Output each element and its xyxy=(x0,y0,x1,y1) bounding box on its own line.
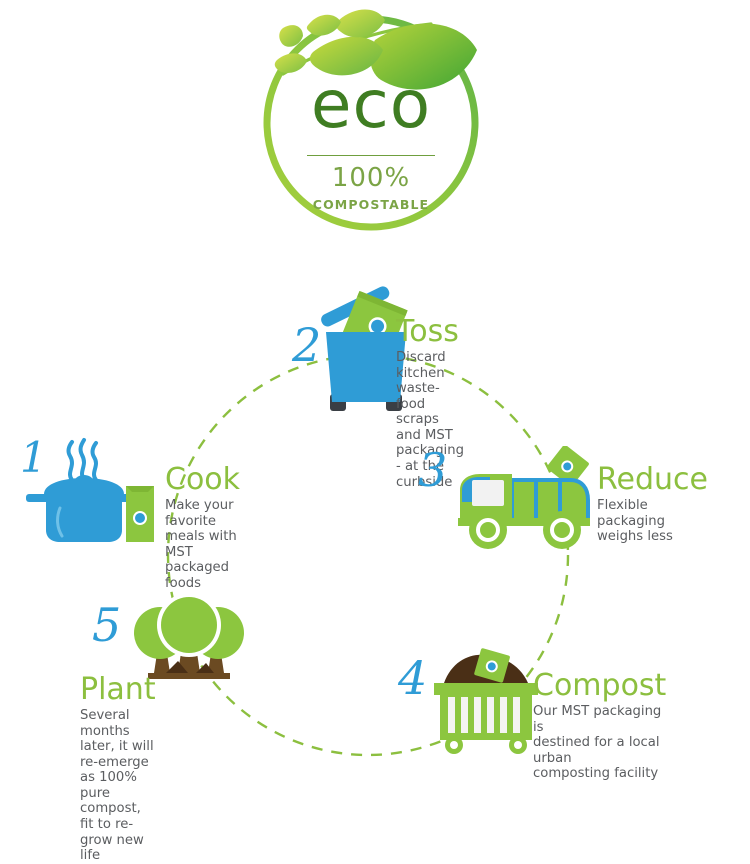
step-reduce-text: Reduce Flexible packaging weighs less xyxy=(597,465,708,545)
step-number-5: 5 xyxy=(92,602,121,648)
bin-body-icon xyxy=(326,332,406,402)
garbage-truck-icon xyxy=(450,446,596,556)
pot-handle-icon xyxy=(26,494,142,502)
infographic-canvas: eco 100% COMPOSTABLE 2 xyxy=(0,0,750,779)
step-title-toss: Toss xyxy=(396,317,464,347)
leaf-small-3-icon xyxy=(275,53,307,73)
step-title-cook: Cook xyxy=(165,465,240,495)
step-cook-text: Cook Make your favorite meals with MST p… xyxy=(165,465,240,591)
step-number-4: 4 xyxy=(398,655,427,701)
steam-icon xyxy=(69,440,96,480)
step-title-plant: Plant xyxy=(80,675,156,705)
compost-bin-icon xyxy=(428,645,546,759)
step-desc-compost: Our MST packaging is destined for a loca… xyxy=(533,704,666,782)
badge-percent: 100% xyxy=(255,165,487,191)
cab-window-icon xyxy=(472,480,504,506)
step-compost-text: Compost Our MST packaging is destined fo… xyxy=(533,671,666,782)
bin-rim-icon xyxy=(434,683,538,695)
pot-lid-icon xyxy=(44,478,124,494)
step-plant-text: Plant Several months later, it will re-e… xyxy=(80,675,156,864)
step-desc-cook: Make your favorite meals with MST packag… xyxy=(165,498,240,591)
step-title-reduce: Reduce xyxy=(597,465,708,495)
ground-icon xyxy=(148,673,230,679)
step-number-3: 3 xyxy=(418,447,447,493)
badge-word: eco xyxy=(255,72,487,138)
truck-wheel-front-icon xyxy=(469,511,507,549)
badge-divider xyxy=(307,155,435,156)
tree-canopy-center-icon xyxy=(161,597,217,653)
leaf-small-2-icon xyxy=(307,15,341,36)
step-desc-plant: Several months later, it will re-emerge … xyxy=(80,708,156,864)
cooking-pot-icon xyxy=(22,436,162,552)
truck-wheel-rear-icon xyxy=(543,511,581,549)
step-desc-reduce: Flexible packaging weighs less xyxy=(597,498,708,545)
step-title-compost: Compost xyxy=(533,671,666,701)
eco-compostable-badge: eco 100% COMPOSTABLE xyxy=(255,0,487,236)
badge-subtitle: COMPOSTABLE xyxy=(255,199,487,212)
